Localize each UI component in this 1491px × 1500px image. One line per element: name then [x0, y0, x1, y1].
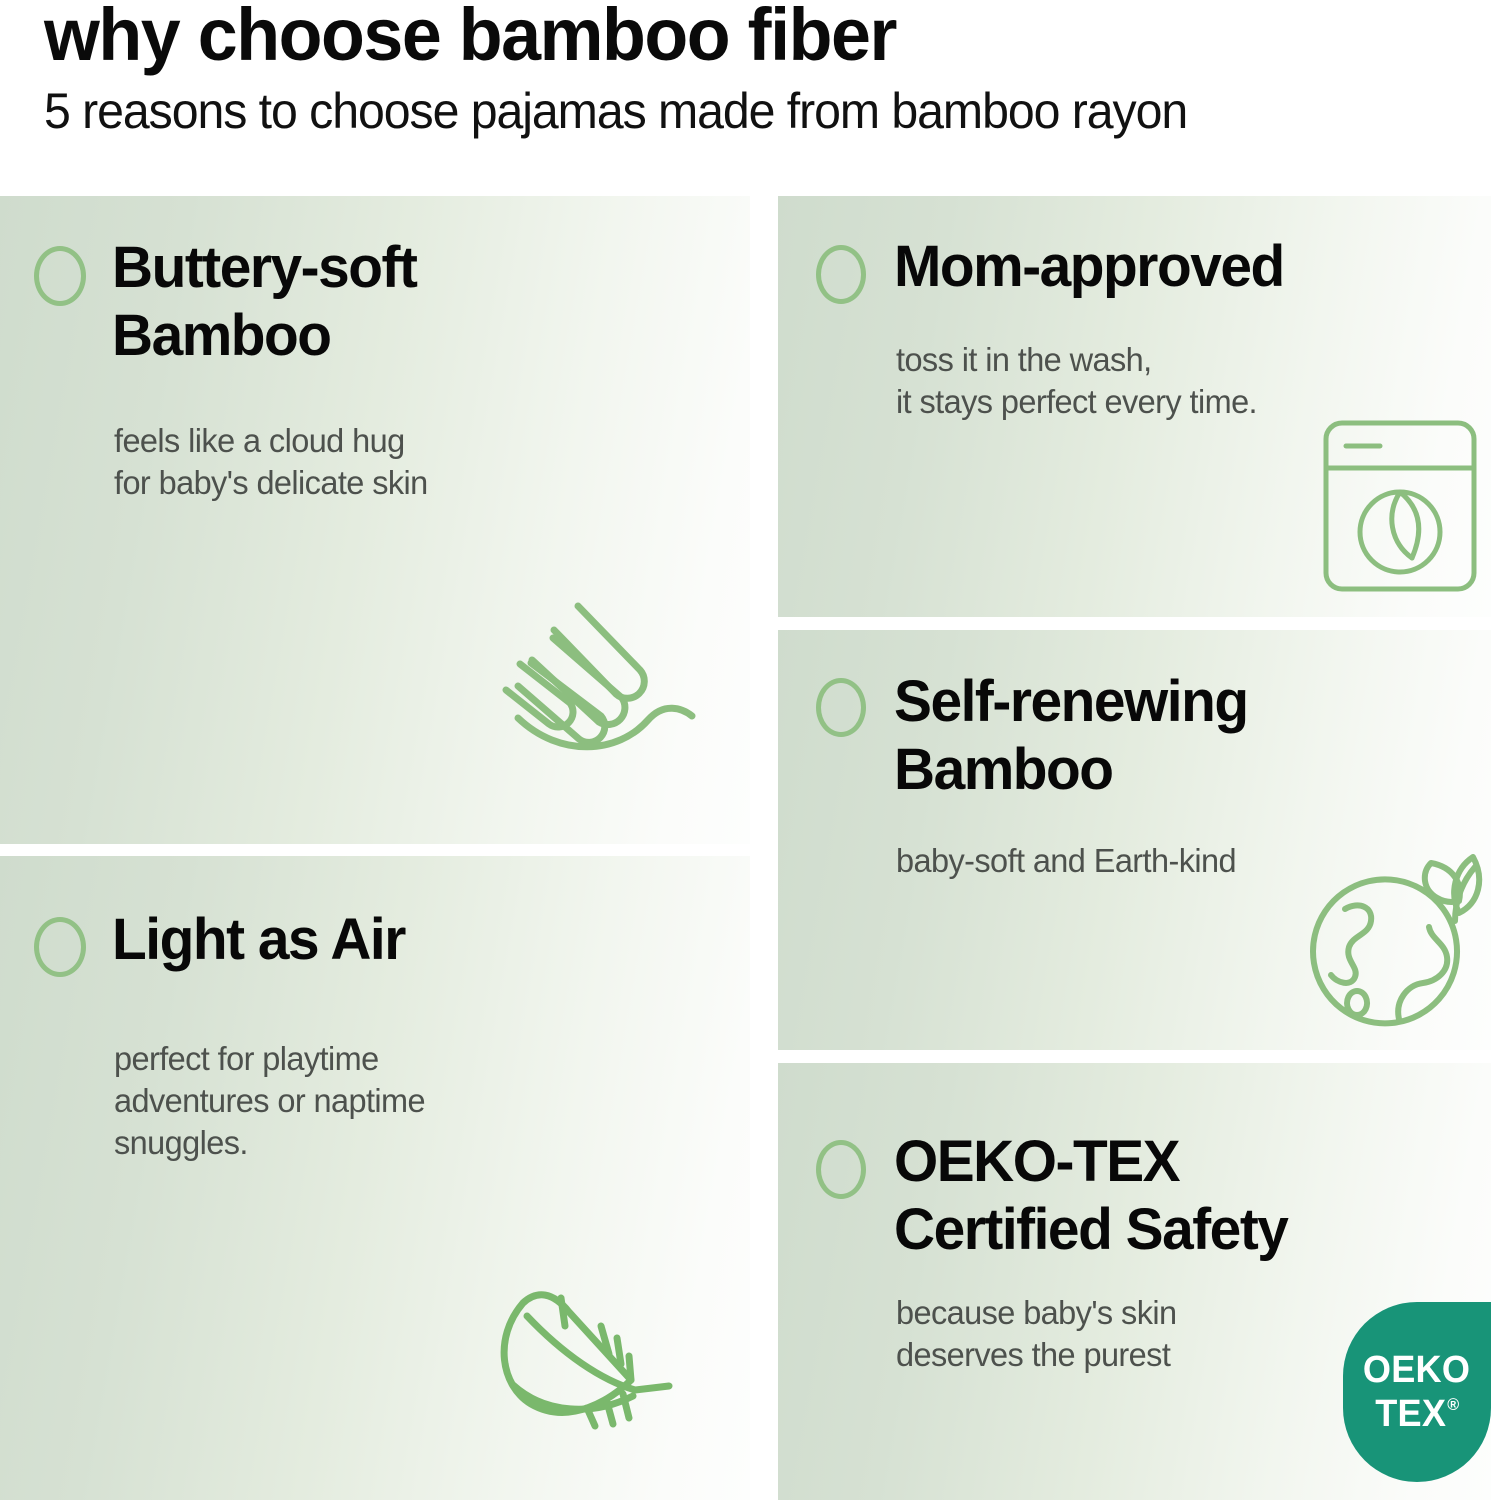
registered-mark: ® — [1447, 1396, 1459, 1413]
oeko-tex-badge: OEKO TEX® — [1343, 1302, 1491, 1482]
feature-body: baby-soft and Earth-kind — [896, 840, 1236, 882]
earth-leaf-icon — [1303, 843, 1491, 1028]
hand-touch-fabric-icon — [498, 598, 728, 768]
page-title: why choose bamboo fiber — [44, 0, 896, 72]
feature-body: feels like a cloud hug for baby's delica… — [114, 420, 428, 504]
bullet-ring-icon — [34, 246, 86, 306]
oeko-tex-badge-line1: OEKO — [1363, 1351, 1470, 1389]
feature-title: Light as Air — [112, 906, 405, 974]
bullet-ring-icon — [816, 1140, 866, 1199]
washing-machine-icon — [1320, 418, 1480, 594]
bullet-ring-icon — [34, 917, 86, 977]
feature-title: OEKO-TEX Certified Safety — [894, 1128, 1287, 1265]
feature-title: Buttery-soft Bamboo — [112, 234, 416, 371]
feature-body: perfect for playtime adventures or napti… — [114, 1038, 425, 1165]
feather-icon — [483, 1268, 723, 1453]
feature-body: because baby's skin deserves the purest — [896, 1292, 1176, 1376]
feature-title: Self-renewing Bamboo — [894, 668, 1248, 805]
page-header: why choose bamboo fiber 5 reasons to cho… — [0, 0, 1491, 190]
bullet-ring-icon — [816, 245, 866, 304]
feature-body: toss it in the wash, it stays perfect ev… — [896, 339, 1257, 423]
oeko-tex-badge-line2: TEX® — [1375, 1395, 1459, 1433]
bullet-ring-icon — [816, 678, 866, 737]
page-subtitle: 5 reasons to choose pajamas made from ba… — [44, 86, 1187, 136]
feature-title: Mom-approved — [894, 233, 1284, 301]
oeko-tex-badge-tex: TEX — [1375, 1395, 1446, 1433]
